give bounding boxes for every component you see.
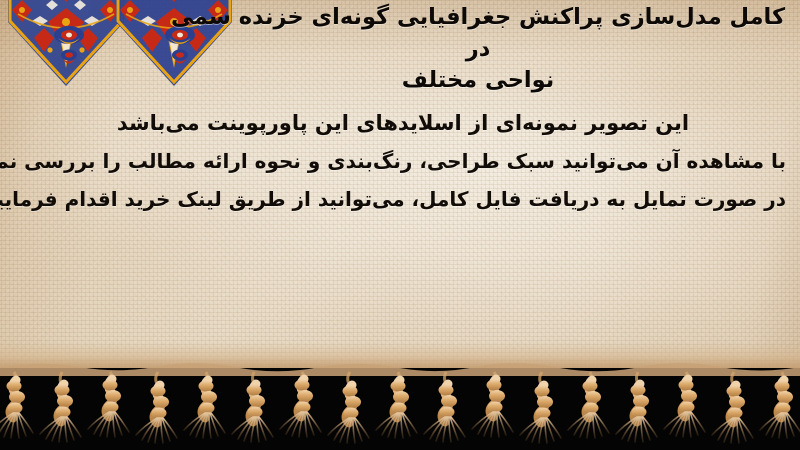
slide-title: کامل مدل‌سازی پراکنش جغرافیایی گونه‌ای خ… bbox=[170, 2, 786, 97]
slide-body-line-3: در صورت تمایل به دریافت فایل کامل، می‌تو… bbox=[20, 181, 786, 219]
slide-title-line-2: نواحی مختلف bbox=[402, 67, 554, 93]
slide-title-line-1: کامل مدل‌سازی پراکنش جغرافیایی گونه‌ای خ… bbox=[171, 4, 785, 62]
carpet-fringe bbox=[0, 342, 800, 450]
slide-body: این تصویر نمونه‌ای از اسلایدهای این پاور… bbox=[20, 104, 786, 219]
slide-body-line-2: با مشاهده آن می‌توانید سبک طراحی، رنگ‌بن… bbox=[20, 143, 786, 181]
presentation-slide: کامل مدل‌سازی پراکنش جغرافیایی گونه‌ای خ… bbox=[0, 0, 800, 450]
carpet-pendant-icon bbox=[52, 24, 86, 76]
slide-body-line-1: این تصویر نمونه‌ای از اسلایدهای این پاور… bbox=[20, 104, 786, 143]
